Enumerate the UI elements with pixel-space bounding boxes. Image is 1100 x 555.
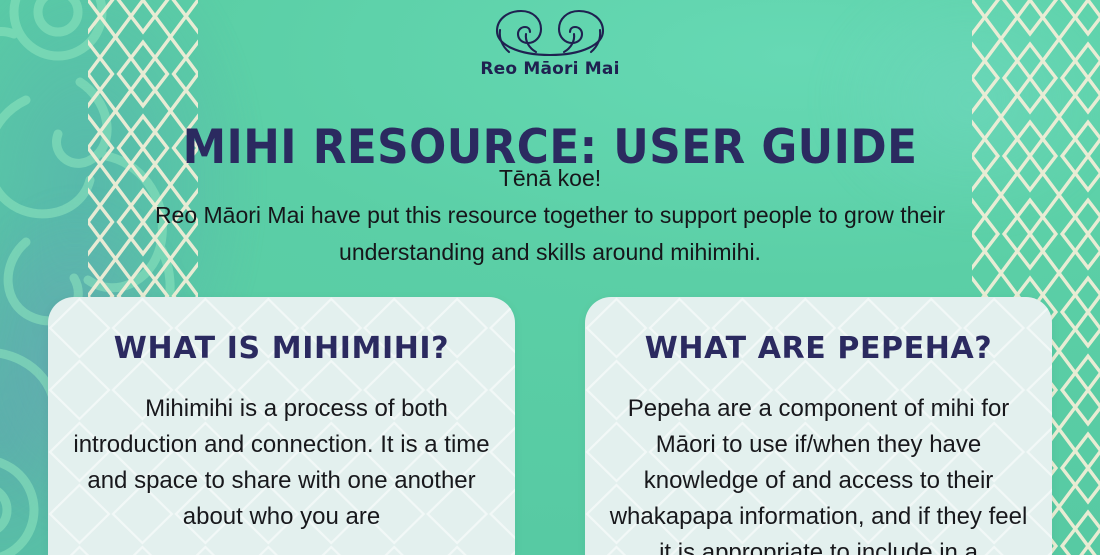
card-body-text: Pepeha are a component of mihi for Māori… bbox=[607, 391, 1030, 555]
brand-logo: Reo Māori Mai bbox=[0, 8, 1100, 79]
koru-double-spiral-icon bbox=[491, 8, 609, 58]
greeting-text: Tēnā koe! bbox=[90, 160, 1010, 197]
card-body-text: Mihimihi is a process of both introducti… bbox=[70, 391, 493, 535]
intro-block: Tēnā koe! Reo Māori Mai have put this re… bbox=[90, 160, 1010, 271]
brand-name: Reo Māori Mai bbox=[480, 59, 619, 79]
card-heading: WHAT IS MIHIMIHI? bbox=[70, 333, 493, 365]
card-heading: WHAT ARE PEPEHA? bbox=[607, 333, 1030, 365]
intro-text: Reo Māori Mai have put this resource tog… bbox=[155, 202, 945, 265]
poster-canvas: Reo Māori Mai MIHI RESOURCE: USER GUIDE … bbox=[0, 0, 1100, 555]
card-row: WHAT IS MIHIMIHI? Mihimihi is a process … bbox=[48, 297, 1052, 555]
card-what-are-pepeha: WHAT ARE PEPEHA? Pepeha are a component … bbox=[585, 297, 1052, 555]
card-what-is-mihimihi: WHAT IS MIHIMIHI? Mihimihi is a process … bbox=[48, 297, 515, 555]
